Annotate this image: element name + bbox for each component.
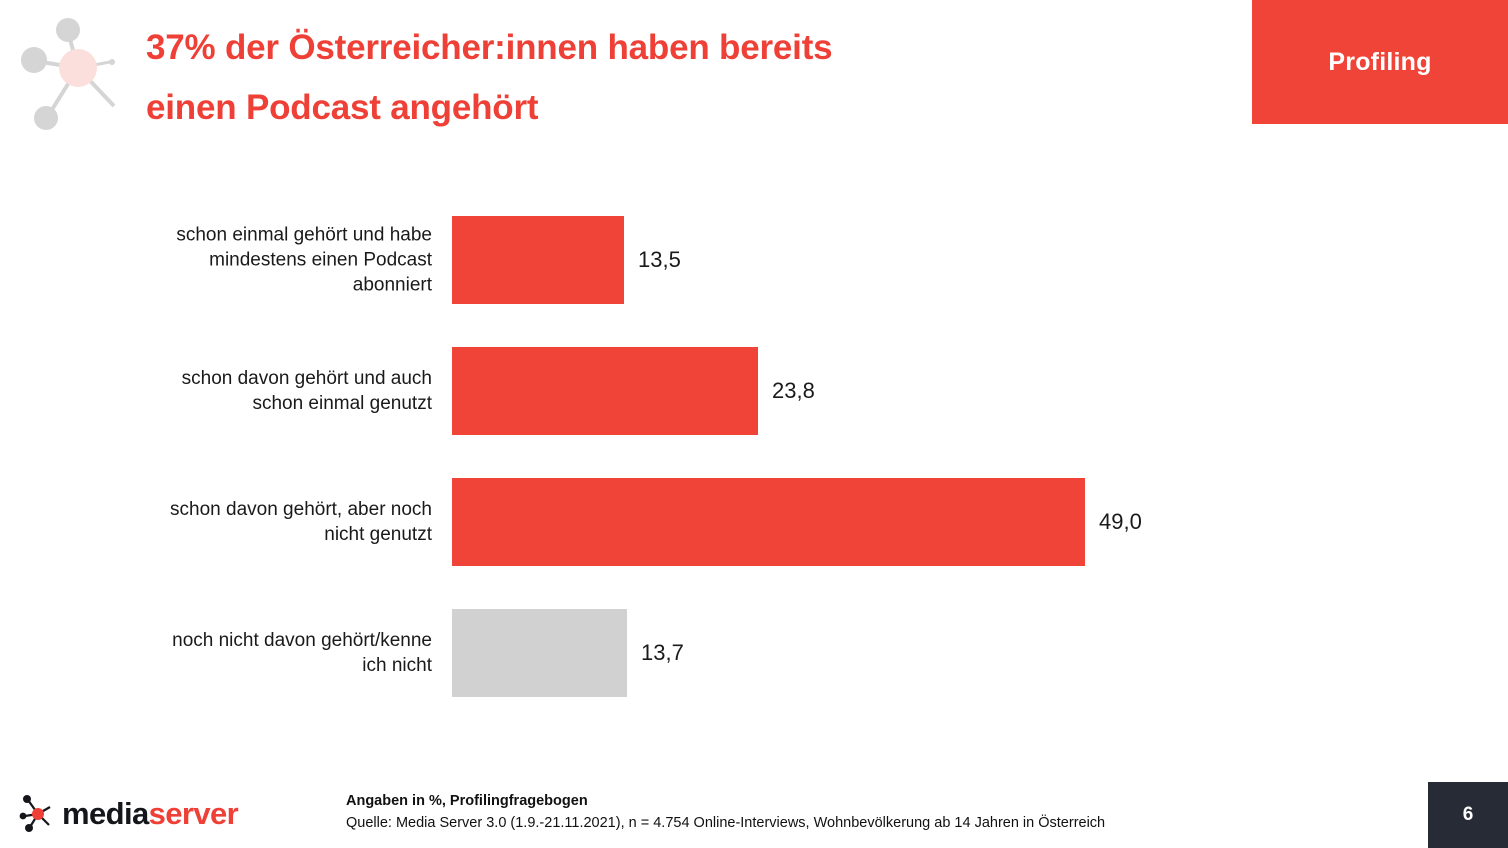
bar-row: schon einmal gehört und habe mindestens … — [0, 216, 1508, 304]
bar-row: schon davon gehört, aber noch nicht genu… — [0, 478, 1508, 566]
footer-note-bold: Angaben in %, Profilingfragebogen — [346, 790, 1376, 812]
footer-notes: Angaben in %, Profilingfragebogen Quelle… — [346, 790, 1376, 834]
page-number-badge: 6 — [1428, 782, 1508, 848]
mediaserver-logo: mediaserver — [18, 792, 238, 836]
bar-category-label: noch nicht davon gehört/kenne ich nicht — [150, 628, 432, 678]
logo-network-icon — [18, 794, 58, 834]
bar-value-label: 49,0 — [1085, 509, 1142, 535]
page-title: 37% der Österreicher:innen haben bereits… — [146, 18, 1206, 138]
bar-fill — [452, 478, 1085, 566]
bar-value-label: 23,8 — [758, 378, 815, 404]
bar-row: noch nicht davon gehört/kenne ich nicht … — [0, 609, 1508, 697]
bar-fill — [452, 216, 624, 304]
page-title-line-1: 37% der Österreicher:innen haben bereits — [146, 18, 1206, 78]
bar-track: 13,7 — [452, 609, 627, 697]
bar-track: 49,0 — [452, 478, 1085, 566]
bar-chart: schon einmal gehört und habe mindestens … — [0, 190, 1508, 730]
footer-note-source: Quelle: Media Server 3.0 (1.9.-21.11.202… — [346, 812, 1376, 834]
bar-value-label: 13,7 — [627, 640, 684, 666]
slide: 37% der Österreicher:innen haben bereits… — [0, 0, 1508, 848]
profiling-badge: Profiling — [1252, 0, 1508, 124]
logo-text-server: server — [149, 796, 239, 831]
bar-row: schon davon gehört und auch schon einmal… — [0, 347, 1508, 435]
page-number-label: 6 — [1463, 804, 1474, 826]
bar-value-label: 13,5 — [624, 247, 681, 273]
bar-fill — [452, 347, 758, 435]
bar-category-label: schon einmal gehört und habe mindestens … — [150, 223, 432, 298]
logo-wordmark: mediaserver — [62, 797, 238, 831]
logo-text-media: media — [62, 796, 149, 831]
network-decoration-icon — [6, 6, 146, 146]
profiling-badge-label: Profiling — [1328, 48, 1431, 77]
bar-track: 23,8 — [452, 347, 758, 435]
bar-category-label: schon davon gehört, aber noch nicht genu… — [150, 497, 432, 547]
page-title-line-2: einen Podcast angehört — [146, 78, 1206, 138]
bar-track: 13,5 — [452, 216, 624, 304]
bar-fill — [452, 609, 627, 697]
bar-category-label: schon davon gehört und auch schon einmal… — [150, 366, 432, 416]
